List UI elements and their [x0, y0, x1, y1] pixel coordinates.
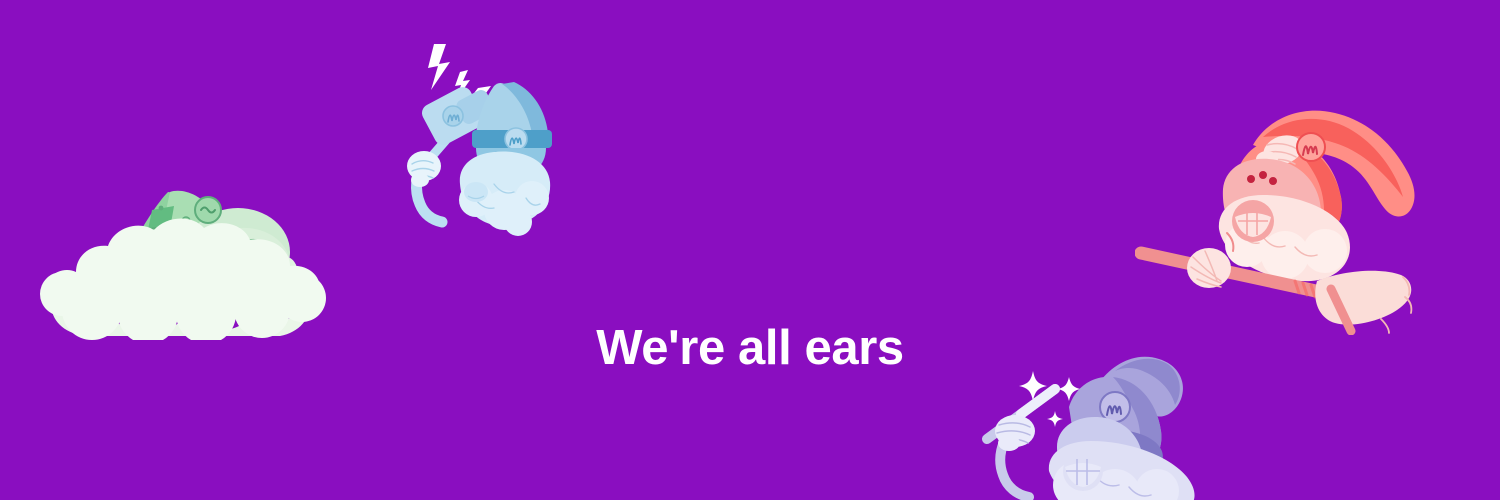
hero-banner: We're all ears for you, always	[0, 0, 1500, 500]
page-headline: We're all ears for you, always	[0, 178, 1500, 500]
headline-line-1: We're all ears	[0, 314, 1500, 382]
